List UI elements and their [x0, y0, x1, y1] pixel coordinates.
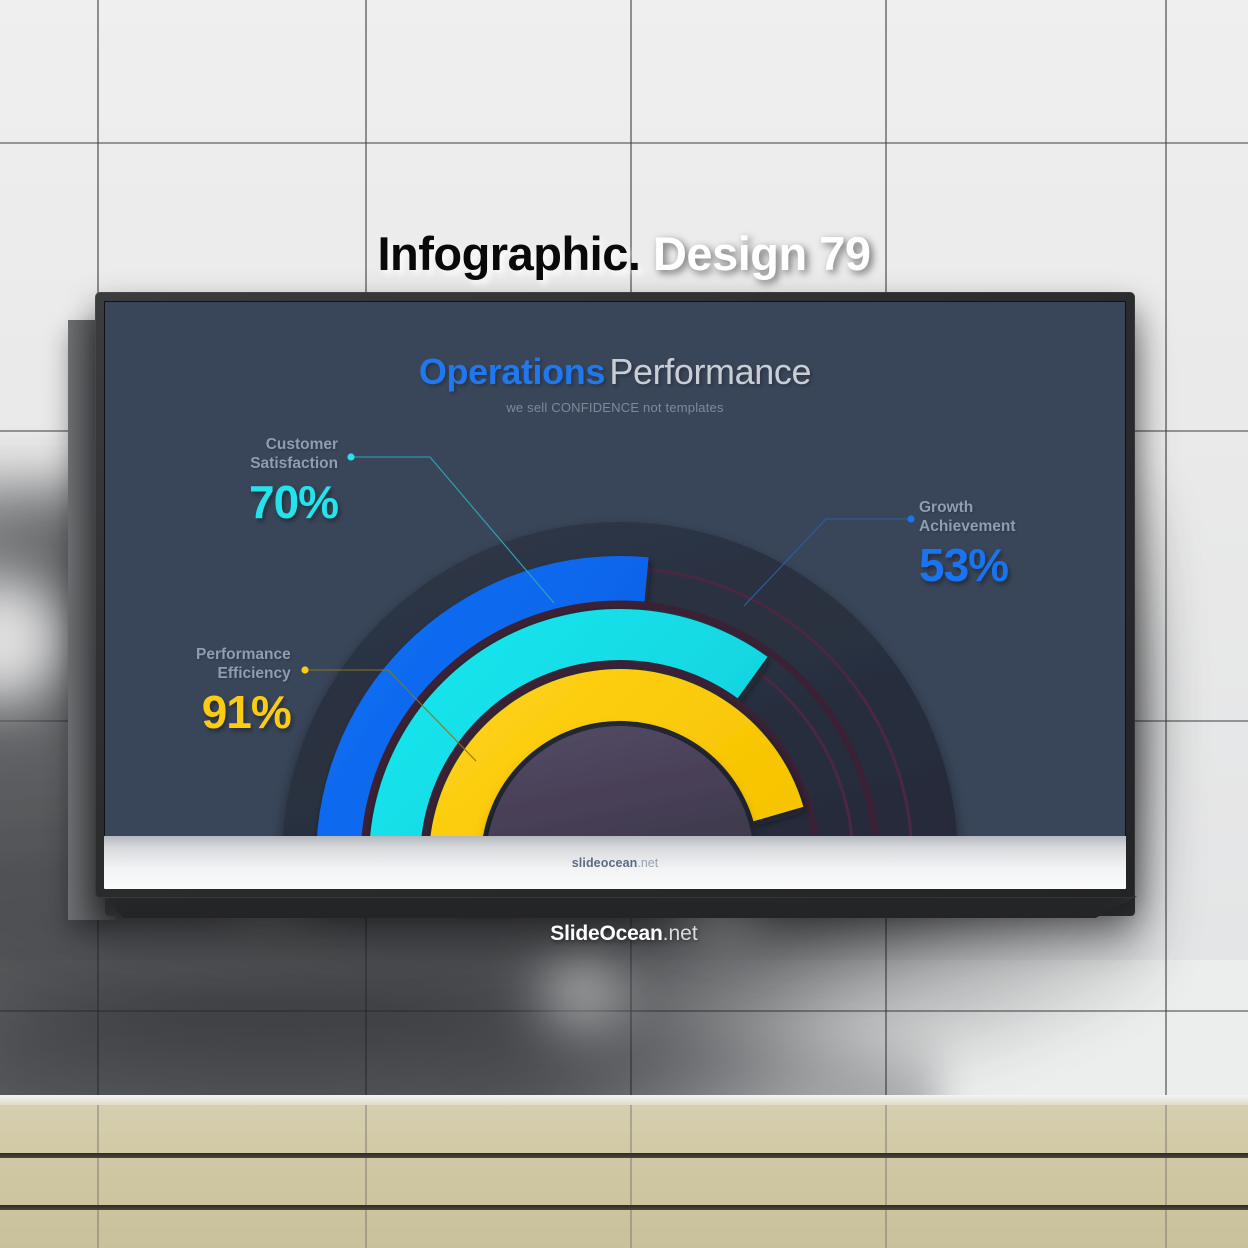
slide-subtitle: we sell CONFIDENCE not templates: [104, 400, 1126, 415]
panel-groove: [0, 1153, 1248, 1158]
page-title: Infographic. Design 79: [0, 226, 1248, 281]
grout-line-vertical: [630, 1105, 632, 1248]
callout-label: Performance Efficiency: [196, 646, 291, 684]
slide-heading-light: Performance: [609, 351, 811, 392]
slide-footer-tld: .net: [637, 856, 658, 870]
brand-name: SlideOcean: [550, 922, 662, 945]
grout-line-horizontal: [0, 142, 1248, 144]
brand-watermark: SlideOcean.net: [0, 922, 1248, 946]
callout-label: Customer Satisfaction: [249, 436, 338, 474]
grout-line-vertical: [365, 1105, 367, 1248]
radial-gauge-chart: [310, 523, 930, 843]
slide-footer-bar: slideocean.net: [104, 836, 1126, 889]
page-title-light: Design 79: [653, 227, 871, 280]
callout-value: 70%: [249, 479, 338, 526]
callout-value: 91%: [196, 689, 291, 736]
callout-label-line1: Growth: [919, 499, 973, 516]
grout-line-vertical: [885, 1105, 887, 1248]
wall-lower-tiles: [0, 1105, 1248, 1248]
slide-screen: Operations Performance we sell CONFIDENC…: [104, 301, 1126, 889]
gauge-svg: [310, 523, 930, 863]
brand-tld: .net: [663, 922, 698, 945]
callout-label-line2: Satisfaction: [250, 455, 338, 472]
grout-line-vertical: [97, 1105, 99, 1248]
slide-heading: Operations Performance: [104, 351, 1126, 393]
callout-label-line1: Customer: [266, 436, 338, 453]
callout-growth-achievement[interactable]: Growth Achievement 53%: [919, 499, 1015, 589]
callout-label-line1: Performance: [196, 646, 291, 663]
monitor-bottom-edge: [103, 896, 1137, 918]
slide-footer-brand: slideocean: [572, 856, 638, 870]
callout-customer-satisfaction[interactable]: Customer Satisfaction 70%: [249, 436, 338, 526]
slide-heading-bold: Operations: [419, 351, 605, 392]
monitor-bezel: Operations Performance we sell CONFIDENC…: [95, 292, 1135, 898]
callout-value: 53%: [919, 542, 1015, 589]
grout-line-horizontal: [0, 1010, 1248, 1012]
panel-groove: [0, 1205, 1248, 1210]
grout-line-vertical: [1165, 0, 1167, 1248]
callout-label-line2: Efficiency: [218, 665, 291, 682]
callout-label: Growth Achievement: [919, 499, 1015, 537]
callout-label-line2: Achievement: [919, 518, 1015, 535]
grout-line-vertical: [1165, 1105, 1167, 1248]
page-title-bold: Infographic.: [377, 227, 640, 280]
callout-performance-efficiency[interactable]: Performance Efficiency 91%: [196, 646, 291, 736]
wall-ledge: [0, 1095, 1248, 1105]
